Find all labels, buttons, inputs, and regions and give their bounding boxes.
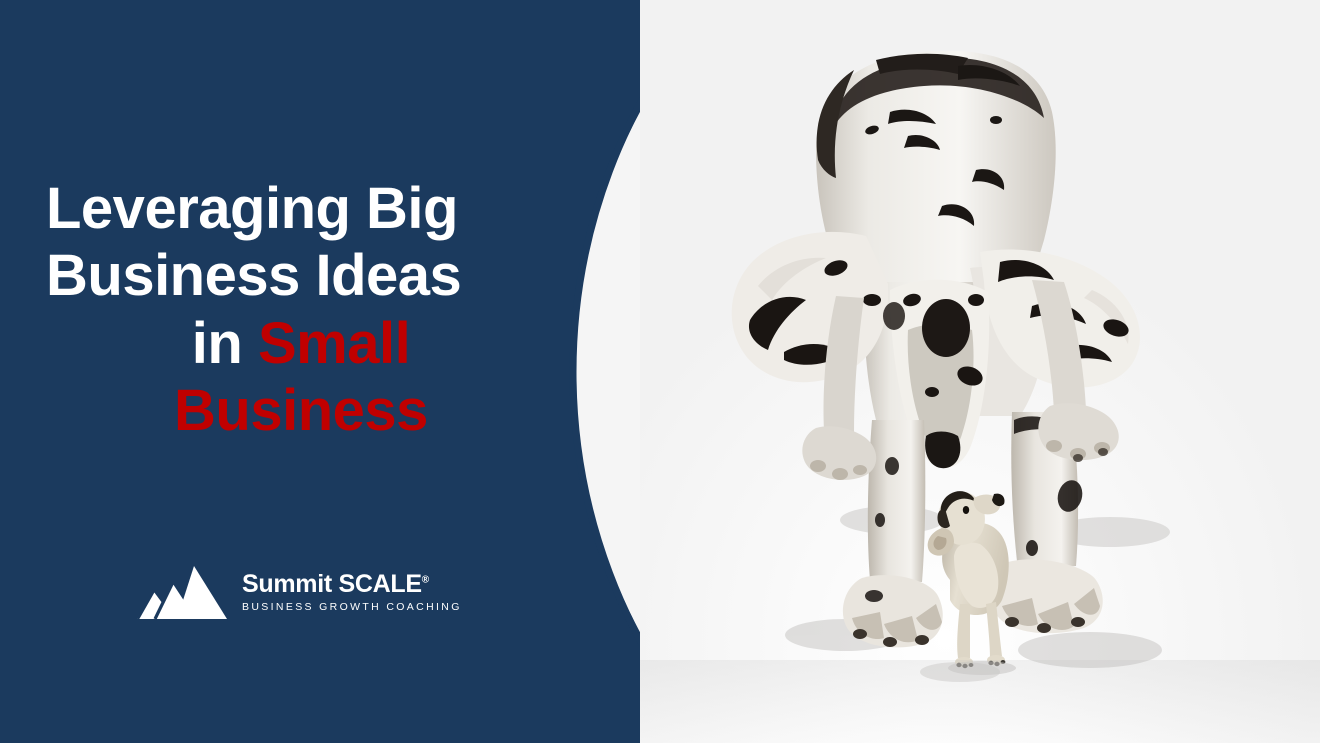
logo-tagline: BUSINESS GROWTH COACHING xyxy=(242,601,462,615)
headline-line-3-accent: Small xyxy=(258,311,410,376)
logo-wordmark: Summit SCALE® xyxy=(242,571,462,598)
dogs-photo xyxy=(640,0,1320,743)
registered-mark: ® xyxy=(422,575,429,586)
text-column: Leveraging Big Business Ideas in Small B… xyxy=(0,0,600,743)
logo-text-block: Summit SCALE® BUSINESS GROWTH COACHING xyxy=(242,571,462,615)
headline-line-3: in Small xyxy=(46,310,556,377)
summit-mountain-icon xyxy=(136,562,228,624)
headline-line-2: Business Ideas xyxy=(46,242,556,309)
page-title: Leveraging Big Business Ideas in Small B… xyxy=(46,175,556,444)
headline-line-3-plain: in xyxy=(192,311,258,376)
logo-wordmark-text: Summit SCALE xyxy=(242,570,422,598)
headline-line-1: Leveraging Big xyxy=(46,175,556,242)
marketing-banner: Leveraging Big Business Ideas in Small B… xyxy=(0,0,1320,743)
brand-logo[interactable]: Summit SCALE® BUSINESS GROWTH COACHING xyxy=(136,562,462,624)
headline-line-4-accent: Business xyxy=(46,377,556,444)
